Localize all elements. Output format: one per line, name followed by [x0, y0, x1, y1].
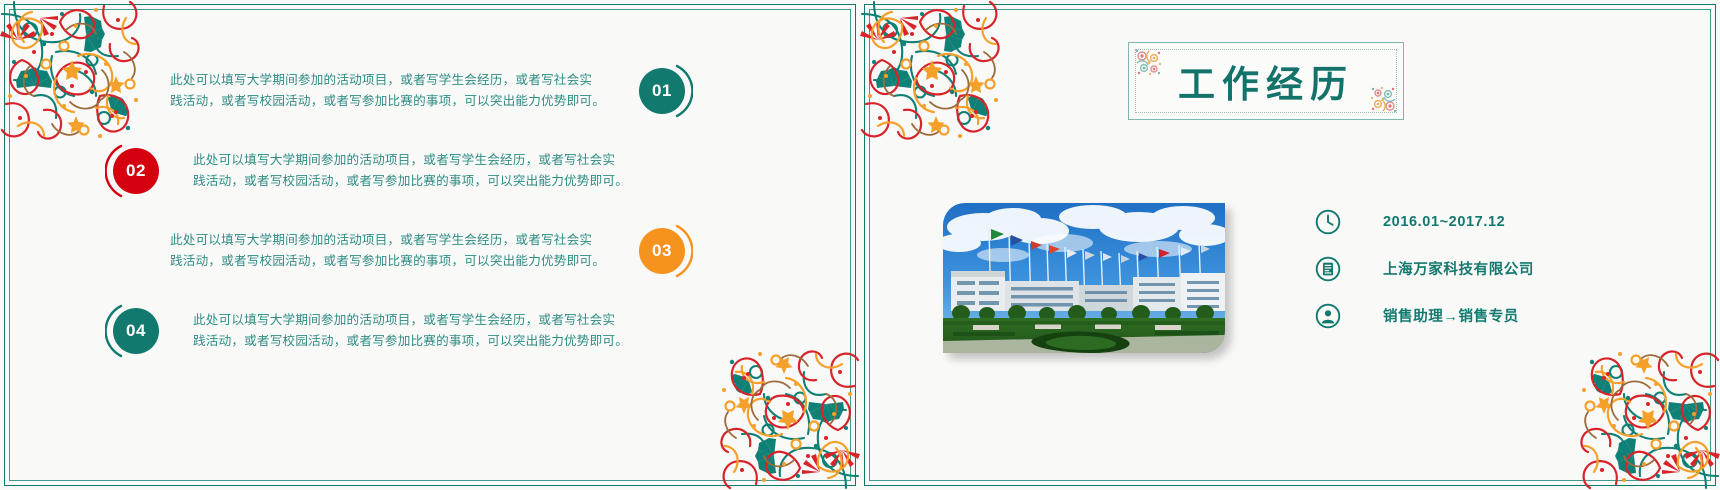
activity-badge[interactable]: 03: [631, 220, 693, 282]
activity-badge[interactable]: 02: [105, 140, 167, 202]
flower-ornament-icon: [1369, 85, 1399, 115]
work-info-list: 2016.01~2017.12 上海万家科技有限公司: [1315, 198, 1534, 339]
flower-ornament-icon: [1133, 47, 1163, 77]
work-period: 2016.01~2017.12: [1383, 214, 1505, 230]
building-icon: [1315, 256, 1341, 282]
work-experience-slide: 工作经历: [860, 0, 1720, 490]
activity-row: 此处可以填写大学期间参加的活动项目，或者写学生会经历，或者写社会实 践活动，或者…: [170, 55, 693, 127]
work-info-row: 上海万家科技有限公司: [1315, 245, 1534, 292]
job-title: 销售助理→销售专员: [1383, 305, 1519, 326]
work-info-row: 销售助理→销售专员: [1315, 292, 1534, 339]
activity-row: 02 此处可以填写大学期间参加的活动项目，或者写学生会经历，或者写社会实 践活动…: [105, 135, 628, 207]
activity-text: 此处可以填写大学期间参加的活动项目，或者写学生会经历，或者写社会实 践活动，或者…: [193, 310, 628, 352]
activity-badge-number: 03: [639, 228, 685, 274]
activity-rows: 此处可以填写大学期间参加的活动项目，或者写学生会经历，或者写社会实 践活动，或者…: [0, 0, 860, 490]
activity-row: 04 此处可以填写大学期间参加的活动项目，或者写学生会经历，或者写社会实 践活动…: [105, 295, 628, 367]
activity-text: 此处可以填写大学期间参加的活动项目，或者写学生会经历，或者写社会实 践活动，或者…: [193, 150, 628, 192]
activity-badge-number: 02: [113, 148, 159, 194]
company-campus-photo: [943, 203, 1225, 353]
activity-badge-number: 01: [639, 68, 685, 114]
activity-badge[interactable]: 01: [631, 60, 693, 122]
clock-icon: [1315, 209, 1341, 235]
company-name: 上海万家科技有限公司: [1383, 258, 1534, 279]
slide-deck: 此处可以填写大学期间参加的活动项目，或者写学生会经历，或者写社会实 践活动，或者…: [0, 0, 1720, 490]
activity-badge-number: 04: [113, 308, 159, 354]
person-icon: [1315, 303, 1341, 329]
activity-text: 此处可以填写大学期间参加的活动项目，或者写学生会经历，或者写社会实 践活动，或者…: [170, 230, 605, 272]
page-title: 工作经历: [1178, 54, 1354, 108]
activity-badge[interactable]: 04: [105, 300, 167, 362]
activity-list-slide: 此处可以填写大学期间参加的活动项目，或者写学生会经历，或者写社会实 践活动，或者…: [0, 0, 860, 490]
campus-image: [943, 203, 1225, 353]
work-info-row: 2016.01~2017.12: [1315, 198, 1534, 245]
activity-row: 此处可以填写大学期间参加的活动项目，或者写学生会经历，或者写社会实 践活动，或者…: [170, 215, 693, 287]
page-title-plaque: 工作经历: [1128, 42, 1404, 120]
activity-text: 此处可以填写大学期间参加的活动项目，或者写学生会经历，或者写社会实 践活动，或者…: [170, 70, 605, 112]
